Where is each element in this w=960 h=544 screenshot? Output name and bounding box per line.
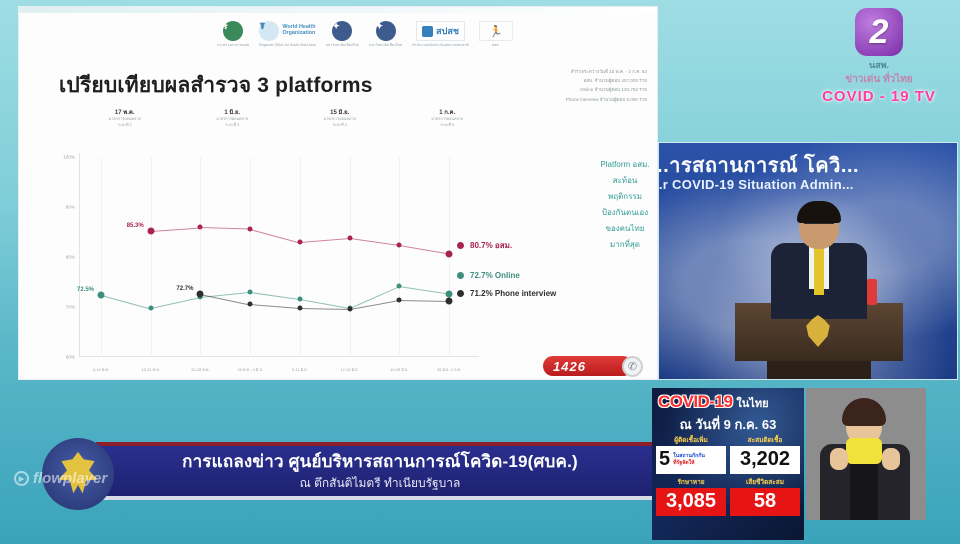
callout-line-2: พฤติกรรม bbox=[575, 189, 658, 205]
y-tick-70%: 70% bbox=[66, 305, 75, 310]
phase-sub2: ระยะที่ 3 bbox=[179, 123, 287, 129]
banner-line2: ณ ตึกสันติไมตรี ทำเนียบรัฐบาล bbox=[110, 474, 650, 493]
survey-meta: สำรวจระหว่างวันที่ 15 พ.ค. - 2 ก.ค. 63 อ… bbox=[475, 67, 647, 104]
note-bottom: ที่รัฐจัดให้ bbox=[673, 460, 705, 467]
line-segment bbox=[250, 229, 300, 244]
phase-sub2: ระยะที่ 2 bbox=[71, 123, 179, 129]
nhso-text: สปสช bbox=[436, 24, 459, 38]
data-point-Phoneinterview-7 bbox=[446, 298, 453, 305]
channel-thai-line1: นสพ. bbox=[806, 58, 952, 72]
legend-dot-icon bbox=[457, 242, 464, 249]
university-logo-1: ✦ มหาวิทยาลัยเชียงใหม่ bbox=[326, 21, 359, 47]
nhso-icon bbox=[422, 26, 433, 37]
x-tick-2: 22-28 พ.ค. bbox=[191, 367, 209, 373]
stats-title-covid: COVID-19 bbox=[658, 392, 732, 412]
gridline-3 bbox=[250, 157, 251, 357]
y-tick-80%: 80% bbox=[66, 255, 75, 260]
x-tick-3: 29 พ.ค.- 4 มิ.ย. bbox=[237, 367, 262, 373]
stats-cell-value-1: 3,202 bbox=[730, 446, 800, 474]
stats-cell-label-0: ผู้ติดเชื้อเพิ่ม bbox=[656, 436, 726, 446]
hotline-badge: 1426 ✆ bbox=[543, 355, 655, 377]
line-segment bbox=[151, 297, 201, 309]
line-segment bbox=[399, 245, 449, 255]
first-value-label-0: 85.3% bbox=[127, 223, 144, 229]
first-value-label-1: 72.5% bbox=[77, 287, 94, 293]
flowplayer-watermark: ▶ flowplayer bbox=[14, 470, 107, 487]
first-value-label-2: 72.7% bbox=[176, 286, 193, 292]
thaihealth-caption: สสส. bbox=[492, 43, 500, 47]
slide-title: เปรียบเทียบผลสำรวจ 3 platforms bbox=[59, 69, 373, 102]
y-axis bbox=[79, 153, 80, 357]
line-segment bbox=[300, 308, 350, 310]
phase-date: 15 มิ.ย. bbox=[286, 107, 394, 117]
stats-cell-label-1: สะสมติดเชื้อ bbox=[730, 436, 800, 446]
stats-value-note: ในสถานกักกันที่รัฐจัดให้ bbox=[673, 453, 705, 466]
survey-meta-line-0: สำรวจระหว่างวันที่ 15 พ.ค. - 2 ก.ค. 63 bbox=[475, 67, 647, 76]
line-chart-plot: 60%70%80%90%100%85.3%72.5%72.7% bbox=[79, 157, 471, 357]
legend-dot-icon bbox=[457, 272, 464, 279]
phase-marker-1: 1 มิ.ย.มาตรการผ่อนคลายระยะที่ 3 bbox=[179, 107, 287, 141]
press-conference-video[interactable]: ...ารสถานการณ์ โควิ... ...r COVID-19 Sit… bbox=[658, 142, 958, 380]
chart-callout-text: Platform อสม.สะท้อนพฤติกรรมป้องกันตนเองข… bbox=[575, 157, 658, 253]
covid-stats-panel: COVID-19 ในไทย ณ วันที่ 9 ก.ค. 63 ผู้ติด… bbox=[652, 388, 804, 540]
phase-markers: 17 พ.ค.มาตรการผ่อนคลายระยะที่ 21 มิ.ย.มา… bbox=[71, 107, 501, 141]
callout-line-5: มากที่สุด bbox=[575, 237, 658, 253]
stats-cell-value-3: 58 bbox=[730, 488, 800, 516]
stats-cell-1: สะสมติดเชื้อ3,202 bbox=[730, 436, 800, 474]
channel-number: 2 bbox=[855, 8, 903, 56]
phase-sub2: ระยะที่ 5 bbox=[394, 123, 502, 129]
interpreter-hair bbox=[842, 398, 886, 426]
nhso-logo: สปสช สำนักงานหลักประกันสุขภาพแห่งชาติ bbox=[412, 21, 469, 47]
who-logo-caption: Regional Office for South-East Asia bbox=[259, 43, 316, 47]
glasses-icon bbox=[804, 223, 834, 230]
hotline-number: 1426 bbox=[543, 356, 633, 376]
interpreter-hand-left bbox=[830, 448, 848, 470]
x-axis-tick-labels: 8-14 พ.ค.15-21 พ.ค.22-28 พ.ค.29 พ.ค.- 4 … bbox=[79, 367, 471, 379]
covid-tv-label: COVID - 19 TV bbox=[806, 88, 952, 105]
stats-cell-0: ผู้ติดเชื้อเพิ่ม5ในสถานกักกันที่รัฐจัดให… bbox=[656, 436, 726, 474]
moph-logo-caption: กระทรวงสาธารณสุข bbox=[217, 43, 249, 47]
podium-base bbox=[767, 361, 871, 380]
stats-row-0: ผู้ติดเชื้อเพิ่ม5ในสถานกักกันที่รัฐจัดให… bbox=[656, 436, 800, 474]
phase-date: 17 พ.ค. bbox=[71, 107, 179, 117]
university-icon-1: ✦ bbox=[332, 21, 352, 41]
phase-date: 1 มิ.ย. bbox=[179, 107, 287, 117]
gridline-1 bbox=[151, 157, 152, 357]
callout-line-4: ของคนไทย bbox=[575, 221, 658, 237]
channel-thai-line2: ข่าวเด่น ทั่วไทย bbox=[806, 72, 952, 87]
x-axis bbox=[79, 356, 479, 357]
y-tick-90%: 90% bbox=[66, 205, 75, 210]
line-segment bbox=[250, 304, 300, 309]
stats-cell-2: รักษาหาย3,085 bbox=[656, 478, 726, 516]
who-icon: ☤ bbox=[259, 21, 279, 41]
x-tick-7: 26 มิ.ย.-2 ก.ค. bbox=[437, 367, 461, 373]
line-segment bbox=[349, 238, 399, 246]
callout-line-3: ป้องกันตนเอง bbox=[575, 205, 658, 221]
x-tick-1: 15-21 พ.ค. bbox=[142, 367, 160, 373]
legend-label: 80.7% อสม. bbox=[470, 239, 512, 252]
gridline-0 bbox=[101, 157, 102, 357]
presentation-slide: ⚕ กระทรวงสาธารณสุข ☤ World Health Organi… bbox=[18, 6, 658, 380]
line-segment bbox=[200, 227, 250, 230]
legend-gap bbox=[457, 261, 637, 271]
gridline-4 bbox=[300, 157, 301, 357]
line-segment bbox=[300, 238, 350, 243]
line-segment bbox=[399, 286, 449, 295]
play-icon: ▶ bbox=[14, 471, 29, 486]
survey-meta-line-3: Phone interview จำนวนผู้ตอบ 5,090 ราย bbox=[475, 95, 647, 104]
thaihealth-icon: 🏃 bbox=[479, 21, 513, 41]
callout-line-0: Platform อสม. bbox=[575, 157, 658, 173]
line-segment bbox=[250, 292, 300, 300]
stats-date: ณ วันที่ 9 ก.ค. 63 bbox=[658, 414, 798, 435]
who-text-line2: Organization bbox=[282, 30, 315, 36]
phase-sub2: ระยะที่ 4 bbox=[286, 123, 394, 129]
phone-icon: ✆ bbox=[622, 356, 643, 377]
legend-item-Online: 72.7% Online bbox=[457, 271, 637, 280]
data-point--7 bbox=[446, 250, 453, 257]
interpreter-scarf bbox=[846, 438, 882, 464]
thaihealth-logo: 🏃 สสส. bbox=[479, 21, 513, 47]
channel-logo: 2 นสพ. ข่าวเด่น ทั่วไทย COVID - 19 TV bbox=[806, 8, 952, 105]
interpreter-hand-right bbox=[882, 448, 900, 470]
y-tick-60%: 60% bbox=[66, 355, 75, 360]
banner-line1: การแถลงข่าว ศูนย์บริหารสถานการณ์โควิด-19… bbox=[110, 448, 650, 475]
moph-logo: ⚕ กระทรวงสาธารณสุข bbox=[217, 21, 249, 47]
phase-marker-3: 1 ก.ค.มาตรการผ่อนคลายระยะที่ 5 bbox=[394, 107, 502, 141]
stats-value-number: 5 bbox=[659, 448, 670, 471]
stats-cell-label-2: รักษาหาย bbox=[656, 478, 726, 488]
line-segment bbox=[101, 295, 151, 310]
stats-cell-3: เสียชีวิตสะสม58 bbox=[730, 478, 800, 516]
x-tick-5: 12-18 มิ.ย. bbox=[341, 367, 359, 373]
flowplayer-label: flowplayer bbox=[33, 470, 107, 487]
x-tick-6: 19-25 มิ.ย. bbox=[390, 367, 408, 373]
x-tick-4: 5-11 มิ.ย. bbox=[292, 367, 308, 373]
university-icon-2: ✦ bbox=[376, 21, 396, 41]
lower-third-banner: การแถลงข่าว ศูนย์บริหารสถานการณ์โควิด-19… bbox=[0, 432, 660, 510]
note-top: ในสถานกักกัน bbox=[673, 453, 705, 459]
data-point-Online-7 bbox=[446, 290, 453, 297]
survey-meta-line-1: อสม. จำนวนผู้ตอบ 407,003 ราย bbox=[475, 76, 647, 85]
stats-row-1: รักษาหาย3,085เสียชีวิตสะสม58 bbox=[656, 478, 800, 516]
line-segment bbox=[151, 227, 201, 232]
line-segment bbox=[399, 300, 449, 302]
broadcast-stage: ⚕ กระทรวงสาธารณสุข ☤ World Health Organi… bbox=[0, 0, 960, 544]
legend-label: 71.2% Phone interview bbox=[470, 289, 556, 298]
phase-marker-2: 15 มิ.ย.มาตรการผ่อนคลายระยะที่ 4 bbox=[286, 107, 394, 141]
callout-line-1: สะท้อน bbox=[575, 173, 658, 189]
survey-meta-line-2: Online จำนวนผู้ตอบ 120,753 ราย bbox=[475, 85, 647, 94]
university-logo-2: ✦ มหาวิทยาลัยเชียงใหม่ bbox=[369, 21, 402, 47]
who-logo: ☤ World Health Organization Regional Off… bbox=[259, 21, 316, 47]
slide-logo-row: ⚕ กระทรวงสาธารณสุข ☤ World Health Organi… bbox=[217, 21, 657, 67]
phase-marker-0: 17 พ.ค.มาตรการผ่อนคลายระยะที่ 2 bbox=[71, 107, 179, 141]
sanitizer-bottle bbox=[867, 279, 877, 305]
y-tick-100%: 100% bbox=[63, 155, 75, 160]
stats-cell-value-2: 3,085 bbox=[656, 488, 726, 516]
gridline-5 bbox=[350, 157, 351, 357]
stats-header: COVID-19 ในไทย bbox=[658, 392, 798, 412]
gridline-6 bbox=[399, 157, 400, 357]
backdrop-subtitle-en: ...r COVID-19 Situation Admin... bbox=[658, 177, 958, 192]
gridline-2 bbox=[200, 157, 201, 357]
stats-grid: ผู้ติดเชื้อเพิ่ม5ในสถานกักกันที่รัฐจัดให… bbox=[656, 436, 800, 520]
phase-date: 1 ก.ค. bbox=[394, 107, 502, 117]
stats-cell-value-0: 5ในสถานกักกันที่รัฐจัดให้ bbox=[656, 446, 726, 474]
university-2-caption: มหาวิทยาลัยเชียงใหม่ bbox=[369, 43, 402, 47]
stats-cell-label-3: เสียชีวิตสะสม bbox=[730, 478, 800, 488]
speaker-tie bbox=[814, 247, 824, 295]
moph-icon: ⚕ bbox=[223, 21, 243, 41]
legend-label: 72.7% Online bbox=[470, 271, 520, 280]
x-tick-0: 8-14 พ.ค. bbox=[93, 367, 109, 373]
legend-dot-icon bbox=[457, 290, 464, 297]
university-1-caption: มหาวิทยาลัยเชียงใหม่ bbox=[326, 43, 359, 47]
sign-language-interpreter bbox=[806, 388, 926, 520]
legend-item-Phoneinterview: 71.2% Phone interview bbox=[457, 289, 637, 298]
nhso-caption: สำนักงานหลักประกันสุขภาพแห่งชาติ bbox=[412, 43, 469, 47]
gridline-7 bbox=[449, 157, 450, 357]
stats-title-thai: ในไทย bbox=[736, 394, 768, 412]
